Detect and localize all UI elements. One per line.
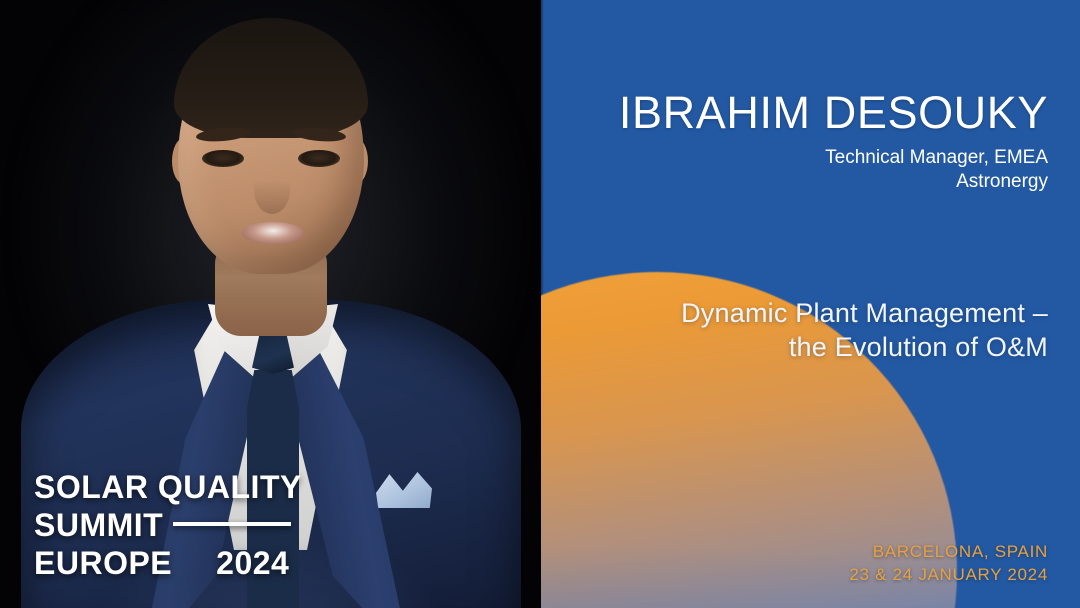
speaker-card-slide: SOLAR QUALITY SUMMIT EUROPE 2024 IBRAHIM… <box>0 0 1080 608</box>
speaker-identity-block: IBRAHIM DESOUKY Technical Manager, EMEA … <box>619 88 1048 194</box>
nose <box>254 166 290 214</box>
venue-dates: 23 & 24 JANUARY 2024 <box>849 563 1048 586</box>
necktie-knot <box>252 334 294 374</box>
talk-title-line-2: the Evolution of O&M <box>681 330 1048 364</box>
mouth <box>242 222 304 244</box>
speaker-portrait-panel: SOLAR QUALITY SUMMIT EUROPE 2024 <box>0 0 541 608</box>
event-logo-year-text: 2024 <box>216 544 289 582</box>
eye-right <box>298 150 340 167</box>
talk-title-line-1: Dynamic Plant Management – <box>681 296 1048 330</box>
hair <box>174 18 368 138</box>
event-logo-rule <box>173 522 291 526</box>
event-logo: SOLAR QUALITY SUMMIT EUROPE 2024 <box>34 468 302 582</box>
talk-title: Dynamic Plant Management – the Evolution… <box>681 296 1048 364</box>
event-logo-line-europe-year: EUROPE 2024 <box>34 544 302 582</box>
event-logo-line-summit: SUMMIT <box>34 506 302 544</box>
venue-location: BARCELONA, SPAIN <box>849 540 1048 563</box>
speaker-role: Technical Manager, EMEA <box>619 146 1048 170</box>
event-logo-europe-text: EUROPE <box>34 544 172 582</box>
speaker-info-panel: IBRAHIM DESOUKY Technical Manager, EMEA … <box>541 0 1080 608</box>
event-logo-summit-text: SUMMIT <box>34 506 163 544</box>
speaker-company: Astronergy <box>619 170 1048 194</box>
speaker-name: IBRAHIM DESOUKY <box>619 88 1048 138</box>
venue-block: BARCELONA, SPAIN 23 & 24 JANUARY 2024 <box>849 540 1048 586</box>
eye-left <box>202 150 244 167</box>
event-logo-line-solar-quality: SOLAR QUALITY <box>34 468 302 506</box>
